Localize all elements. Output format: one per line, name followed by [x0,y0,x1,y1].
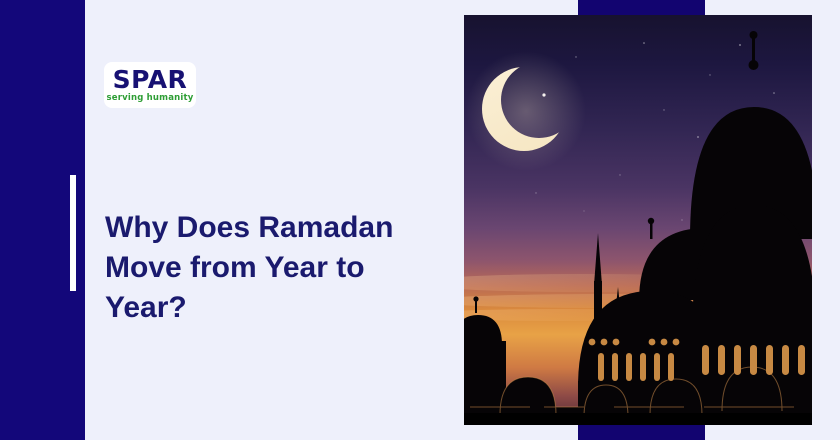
top-navy-tab [578,0,705,16]
logo-wordmark: SPAR [113,67,188,92]
page-title: Why Does Ramadan Move from Year to Year? [105,208,445,328]
logo-tagline: serving humanity [106,94,193,103]
spar-logo[interactable]: SPAR serving humanity [104,62,196,108]
white-accent-bar [70,175,76,291]
hero-image [464,15,812,425]
bottom-navy-tab [578,424,705,440]
night-sky-illustration [464,15,812,425]
ramadan-banner: SPAR serving humanity Why Does Ramadan M… [0,0,840,440]
